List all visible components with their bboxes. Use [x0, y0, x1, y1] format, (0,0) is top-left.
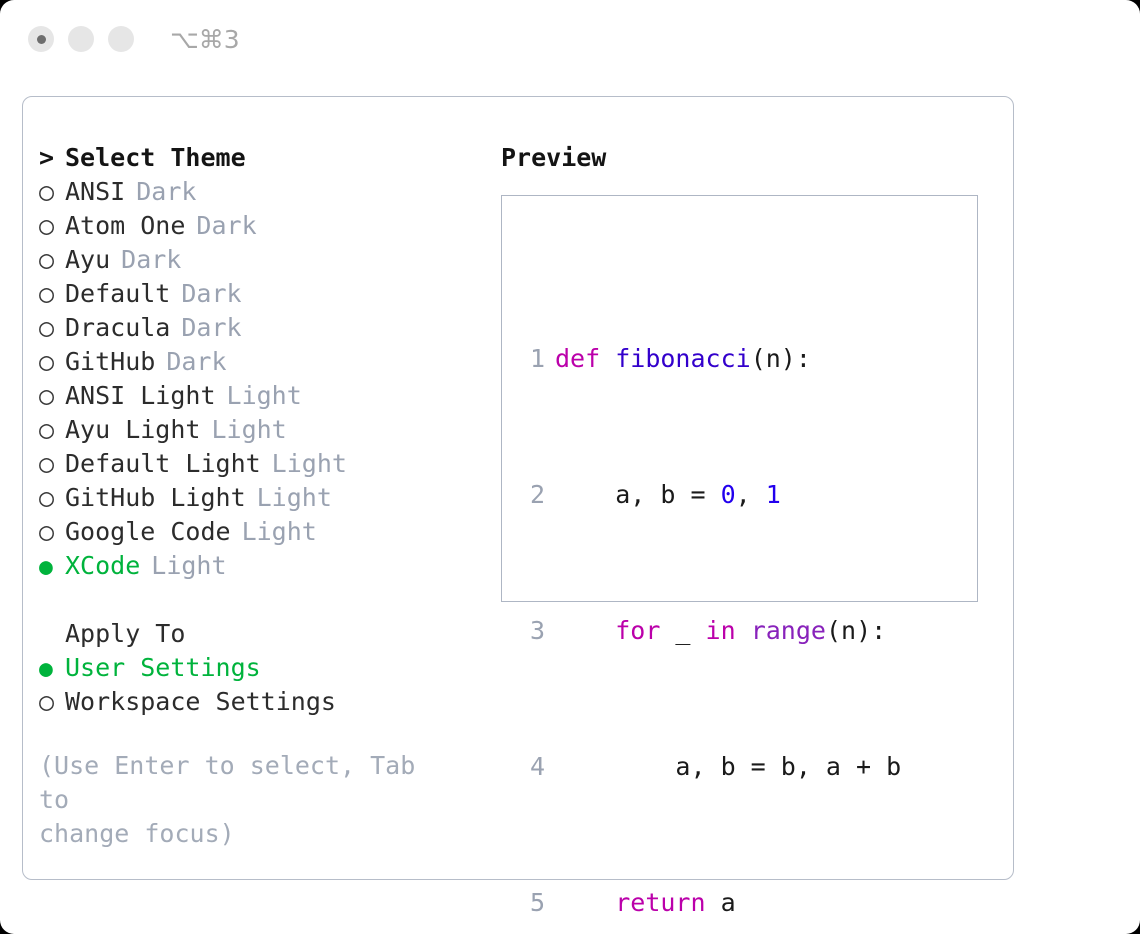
theme-item-label: ANSI [65, 175, 125, 209]
radio-off-icon: ○ [39, 413, 65, 447]
window-dot-second[interactable] [68, 26, 94, 52]
theme-item-label: GitHub Light [65, 481, 246, 515]
apply-to-title: Apply To [65, 617, 185, 651]
window-controls [28, 26, 134, 52]
code-line: 5 return a [519, 886, 931, 920]
code-token-keyword: def [555, 344, 600, 373]
radio-off-icon: ○ [39, 243, 65, 277]
code-token-keyword: return [615, 888, 705, 917]
theme-item-label: Default Light [65, 447, 261, 481]
code-line: 1def fibonacci(n): [519, 342, 931, 376]
theme-item-ayu-light[interactable]: ○Ayu LightLight [39, 413, 489, 447]
theme-item-default-dark[interactable]: ○DefaultDark [39, 277, 489, 311]
code-line: 4 a, b = b, a + b [519, 750, 931, 784]
theme-list-column: >Select Theme ○ANSIDark ○Atom OneDark ○A… [39, 141, 489, 851]
window-titlebar: ⌥⌘3 [0, 0, 1140, 78]
line-number: 1 [519, 342, 545, 376]
radio-on-icon: ● [39, 550, 65, 584]
code-token-plain: , [736, 480, 766, 509]
app-window: ⌥⌘3 >Select Theme ○ANSIDark ○Atom OneDar… [0, 0, 1140, 934]
radio-off-icon: ○ [39, 447, 65, 481]
theme-item-variant: Dark [181, 277, 241, 311]
keyboard-hint-text: (Use Enter to select, Tab to change focu… [39, 749, 459, 851]
radio-off-icon: ○ [39, 175, 65, 209]
theme-picker-panel: >Select Theme ○ANSIDark ○Atom OneDark ○A… [22, 96, 1014, 880]
select-theme-header: >Select Theme [39, 141, 489, 175]
theme-item-variant: Dark [181, 311, 241, 345]
theme-item-label: Dracula [65, 311, 170, 345]
code-token-builtin: range [751, 616, 826, 645]
preview-box: 1def fibonacci(n): 2 a, b = 0, 1 3 for _… [501, 195, 978, 602]
theme-item-variant: Dark [196, 209, 256, 243]
theme-item-github-light[interactable]: ○GitHub LightLight [39, 481, 489, 515]
theme-item-variant: Light [211, 413, 286, 447]
code-token-function: fibonacci [615, 344, 750, 373]
apply-option-label: Workspace Settings [65, 685, 336, 719]
code-token-plain [600, 344, 615, 373]
prompt-caret-icon: > [39, 141, 65, 175]
theme-item-github-dark[interactable]: ○GitHubDark [39, 345, 489, 379]
line-number: 5 [519, 886, 545, 920]
theme-item-atom-one-dark[interactable]: ○Atom OneDark [39, 209, 489, 243]
radio-off-icon: ○ [39, 277, 65, 311]
line-number: 3 [519, 614, 545, 648]
radio-off-icon: ○ [39, 345, 65, 379]
section-spacer [39, 583, 489, 617]
line-number: 4 [519, 750, 545, 784]
theme-item-variant: Light [242, 515, 317, 549]
radio-off-icon: ○ [39, 515, 65, 549]
theme-item-label: Default [65, 277, 170, 311]
code-token-plain: a, b = b, a + b [555, 752, 901, 781]
theme-item-label: Google Code [65, 515, 231, 549]
code-token-plain: (n): [751, 344, 811, 373]
apply-to-marker-placeholder: o [39, 617, 65, 651]
code-token-plain [555, 888, 615, 917]
keyboard-shortcut-label: ⌥⌘3 [170, 25, 240, 54]
apply-to-header: oApply To [39, 617, 489, 651]
apply-option-user-settings[interactable]: ●User Settings [39, 651, 489, 685]
theme-item-dracula-dark[interactable]: ○DraculaDark [39, 311, 489, 345]
theme-item-label: Atom One [65, 209, 185, 243]
code-token-plain: a, b = [555, 480, 721, 509]
theme-item-google-code[interactable]: ○Google CodeLight [39, 515, 489, 549]
window-dot-active[interactable] [28, 26, 54, 52]
theme-item-variant: Light [227, 379, 302, 413]
code-token-keyword: for [615, 616, 660, 645]
theme-item-label: GitHub [65, 345, 155, 379]
radio-off-icon: ○ [39, 481, 65, 515]
theme-item-variant: Light [272, 447, 347, 481]
theme-item-label: ANSI Light [65, 379, 216, 413]
theme-item-ayu-dark[interactable]: ○AyuDark [39, 243, 489, 277]
code-token-plain: a [706, 888, 736, 917]
code-token-number: 0 [721, 480, 736, 509]
preview-title: Preview [501, 141, 1001, 175]
radio-off-icon: ○ [39, 209, 65, 243]
radio-off-icon: ○ [39, 379, 65, 413]
code-token-number: 1 [766, 480, 781, 509]
code-token-plain: _ [660, 616, 705, 645]
theme-item-label: Ayu Light [65, 413, 200, 447]
preview-column: Preview 1def fibonacci(n): 2 a, b = 0, 1… [501, 141, 1001, 602]
theme-item-variant: Light [151, 549, 226, 583]
window-dot-third[interactable] [108, 26, 134, 52]
theme-item-variant: Light [257, 481, 332, 515]
code-token-plain [555, 616, 615, 645]
theme-item-xcode-light[interactable]: ●XCodeLight [39, 549, 489, 583]
theme-item-ansi-dark[interactable]: ○ANSIDark [39, 175, 489, 209]
window-dot-active-inner [37, 35, 46, 44]
code-token-plain: (n): [826, 616, 886, 645]
theme-item-ansi-light[interactable]: ○ANSI LightLight [39, 379, 489, 413]
radio-on-icon: ● [39, 652, 65, 686]
preview-code: 1def fibonacci(n): 2 a, b = 0, 1 3 for _… [519, 240, 931, 934]
code-line: 2 a, b = 0, 1 [519, 478, 931, 512]
theme-item-variant: Dark [121, 243, 181, 277]
code-token-plain [736, 616, 751, 645]
code-line: 3 for _ in range(n): [519, 614, 931, 648]
theme-item-variant: Dark [136, 175, 196, 209]
theme-item-label: Ayu [65, 243, 110, 277]
apply-option-workspace-settings[interactable]: ○Workspace Settings [39, 685, 489, 719]
select-theme-title: Select Theme [65, 141, 246, 175]
theme-item-label: XCode [65, 549, 140, 583]
radio-off-icon: ○ [39, 311, 65, 345]
radio-off-icon: ○ [39, 685, 65, 719]
theme-item-variant: Dark [166, 345, 226, 379]
theme-item-default-light[interactable]: ○Default LightLight [39, 447, 489, 481]
code-token-keyword: in [706, 616, 736, 645]
apply-option-label: User Settings [65, 651, 261, 685]
line-number: 2 [519, 478, 545, 512]
